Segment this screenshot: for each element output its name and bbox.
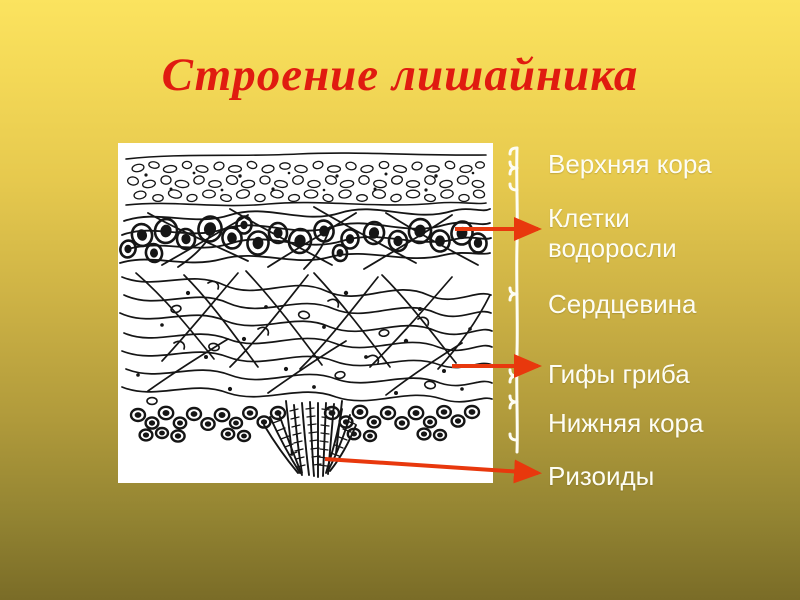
label-fungal-hyphae: Гифы гриба xyxy=(548,359,690,389)
label-medulla: Сердцевина xyxy=(548,289,696,319)
lichen-diagram-panel xyxy=(118,143,493,483)
label-upper-cortex: Верхняя кора xyxy=(548,149,712,179)
brace-group xyxy=(500,140,545,460)
lichen-cross-section-illustration xyxy=(118,143,493,483)
page-title: Строение лишайника xyxy=(0,50,800,102)
brace-spine xyxy=(517,148,518,452)
label-lower-cortex: Нижняя кора xyxy=(548,408,703,438)
slide-canvas: Строение лишайника xyxy=(0,0,800,600)
label-rhizoids: Ризоиды xyxy=(548,461,654,491)
label-algal-cells: Клетки водоросли xyxy=(548,203,677,263)
